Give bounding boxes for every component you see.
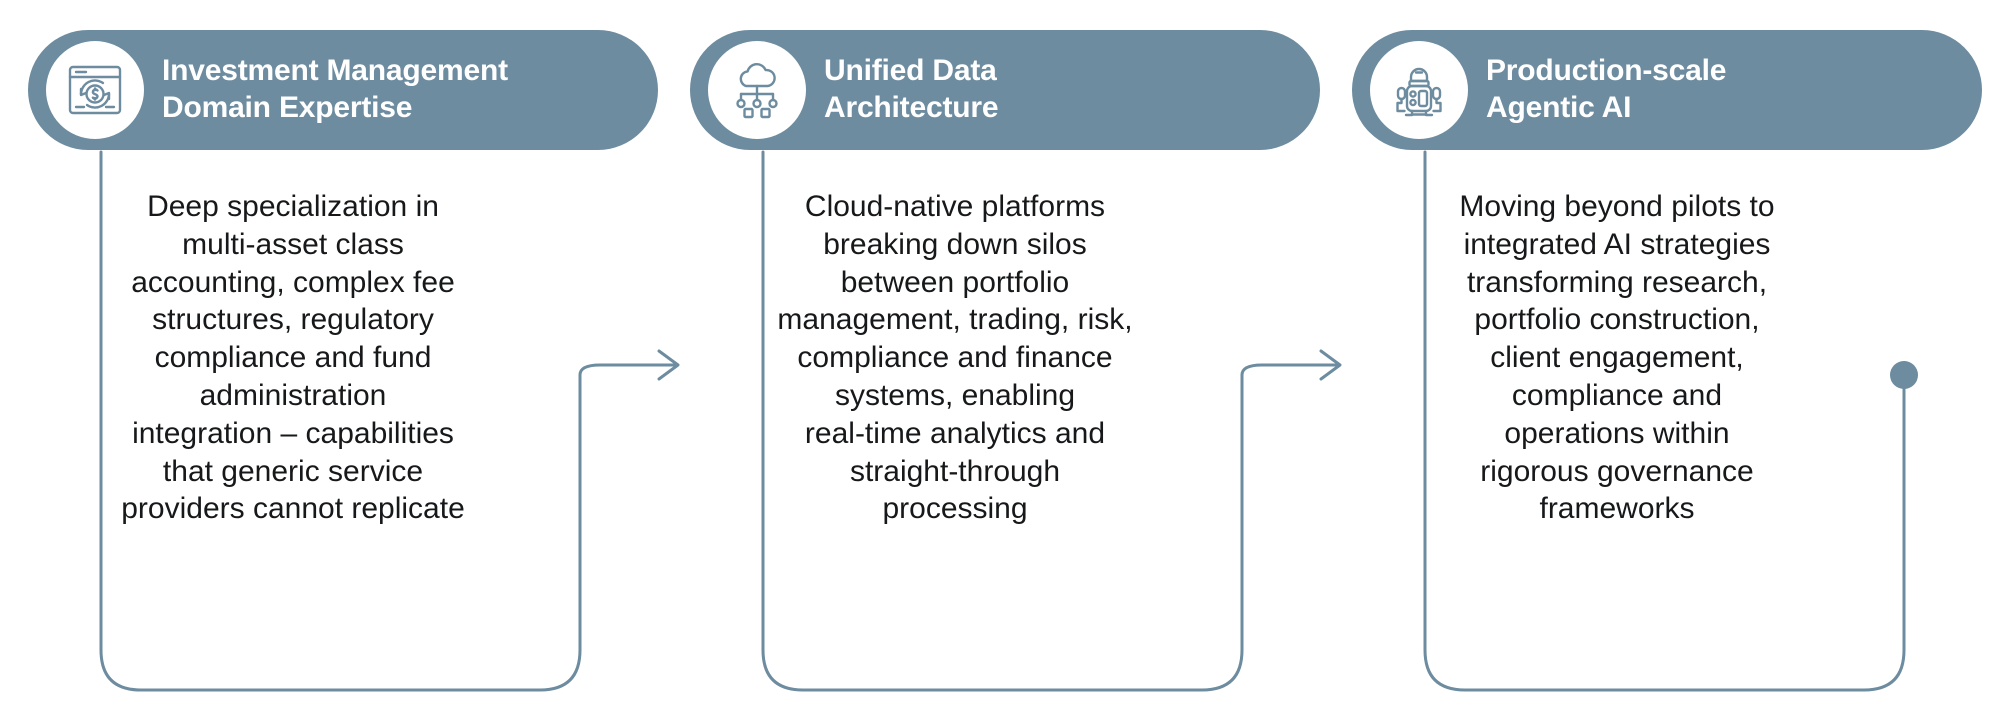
stage-card-investment-management-domain-expertise[interactable]: Investment Management Domain Expertise bbox=[28, 30, 658, 150]
cloud-network-nodes-icon bbox=[708, 41, 806, 139]
flow-arrow-1-head bbox=[659, 351, 678, 379]
stage-description-3: Moving beyond pilots to integrated AI st… bbox=[1402, 188, 1832, 528]
stage-title-1: Investment Management Domain Expertise bbox=[162, 53, 508, 126]
stage-card-production-scale-agentic-ai[interactable]: Production-scale Agentic AI bbox=[1352, 30, 1982, 150]
robot-icon bbox=[1370, 41, 1468, 139]
flow-arrow-2 bbox=[1242, 365, 1338, 375]
stage-header-pill-3[interactable]: Production-scale Agentic AI bbox=[1352, 30, 1982, 150]
diagram-canvas: Investment Management Domain Expertise D… bbox=[0, 0, 2000, 725]
stage-title-2: Unified Data Architecture bbox=[824, 53, 998, 126]
stage-card-unified-data-architecture[interactable]: Unified Data Architecture bbox=[690, 30, 1320, 150]
stage-header-pill-2[interactable]: Unified Data Architecture bbox=[690, 30, 1320, 150]
stage-title-3: Production-scale Agentic AI bbox=[1486, 53, 1726, 126]
flow-arrow-1 bbox=[580, 365, 676, 375]
flow-end-dot bbox=[1890, 361, 1918, 389]
stage-header-pill-1[interactable]: Investment Management Domain Expertise bbox=[28, 30, 658, 150]
finance-window-dollar-refresh-icon bbox=[46, 41, 144, 139]
flow-arrow-2-head bbox=[1321, 351, 1340, 379]
stage-description-1: Deep specialization in multi-asset class… bbox=[78, 188, 508, 528]
stage-description-2: Cloud-native platforms breaking down sil… bbox=[740, 188, 1170, 528]
